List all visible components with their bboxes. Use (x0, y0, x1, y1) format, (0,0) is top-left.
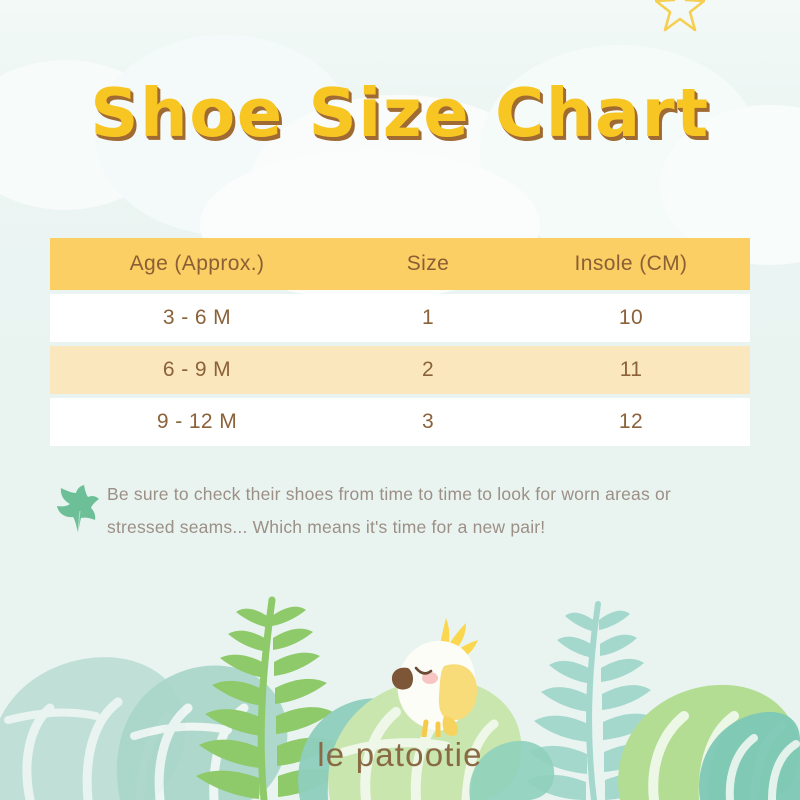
cell-size: 1 (344, 306, 512, 330)
care-note: Be sure to check their shoes from time t… (55, 478, 735, 544)
monstera-leaf-icon (55, 484, 101, 534)
table-row: 3 - 6 M 1 10 (50, 294, 750, 342)
table-row: 6 - 9 M 2 11 (50, 346, 750, 394)
table-row: 9 - 12 M 3 12 (50, 398, 750, 446)
monstera-leaf-left-2 (117, 666, 288, 800)
cell-insole: 12 (512, 410, 750, 434)
page-title-container: Shoe Size Chart (0, 78, 800, 148)
size-table: Age (Approx.) Size Insole (CM) 3 - 6 M 1… (50, 238, 750, 446)
brand-name: le patootie (0, 736, 800, 774)
bird-beak (392, 668, 413, 690)
cell-age: 6 - 9 M (50, 358, 344, 382)
care-note-text: Be sure to check their shoes from time t… (107, 478, 707, 544)
bird-foot (424, 722, 426, 736)
cell-insole: 10 (512, 306, 750, 330)
shoe-size-chart-page: Shoe Size Chart Age (Approx.) Size Insol… (0, 0, 800, 800)
column-header-insole: Insole (CM) (512, 252, 750, 276)
bird-wing (439, 664, 477, 720)
cell-insole: 11 (512, 358, 750, 382)
cell-size: 3 (344, 410, 512, 434)
cell-age: 3 - 6 M (50, 306, 344, 330)
star-icon (655, 0, 705, 38)
cockatoo-bird-icon (378, 612, 498, 737)
table-header-row: Age (Approx.) Size Insole (CM) (50, 238, 750, 290)
monstera-leaf-left (0, 657, 186, 800)
column-header-size: Size (344, 252, 512, 276)
cell-size: 2 (344, 358, 512, 382)
column-header-age: Age (Approx.) (50, 252, 344, 276)
page-title: Shoe Size Chart (90, 78, 709, 148)
cell-age: 9 - 12 M (50, 410, 344, 434)
